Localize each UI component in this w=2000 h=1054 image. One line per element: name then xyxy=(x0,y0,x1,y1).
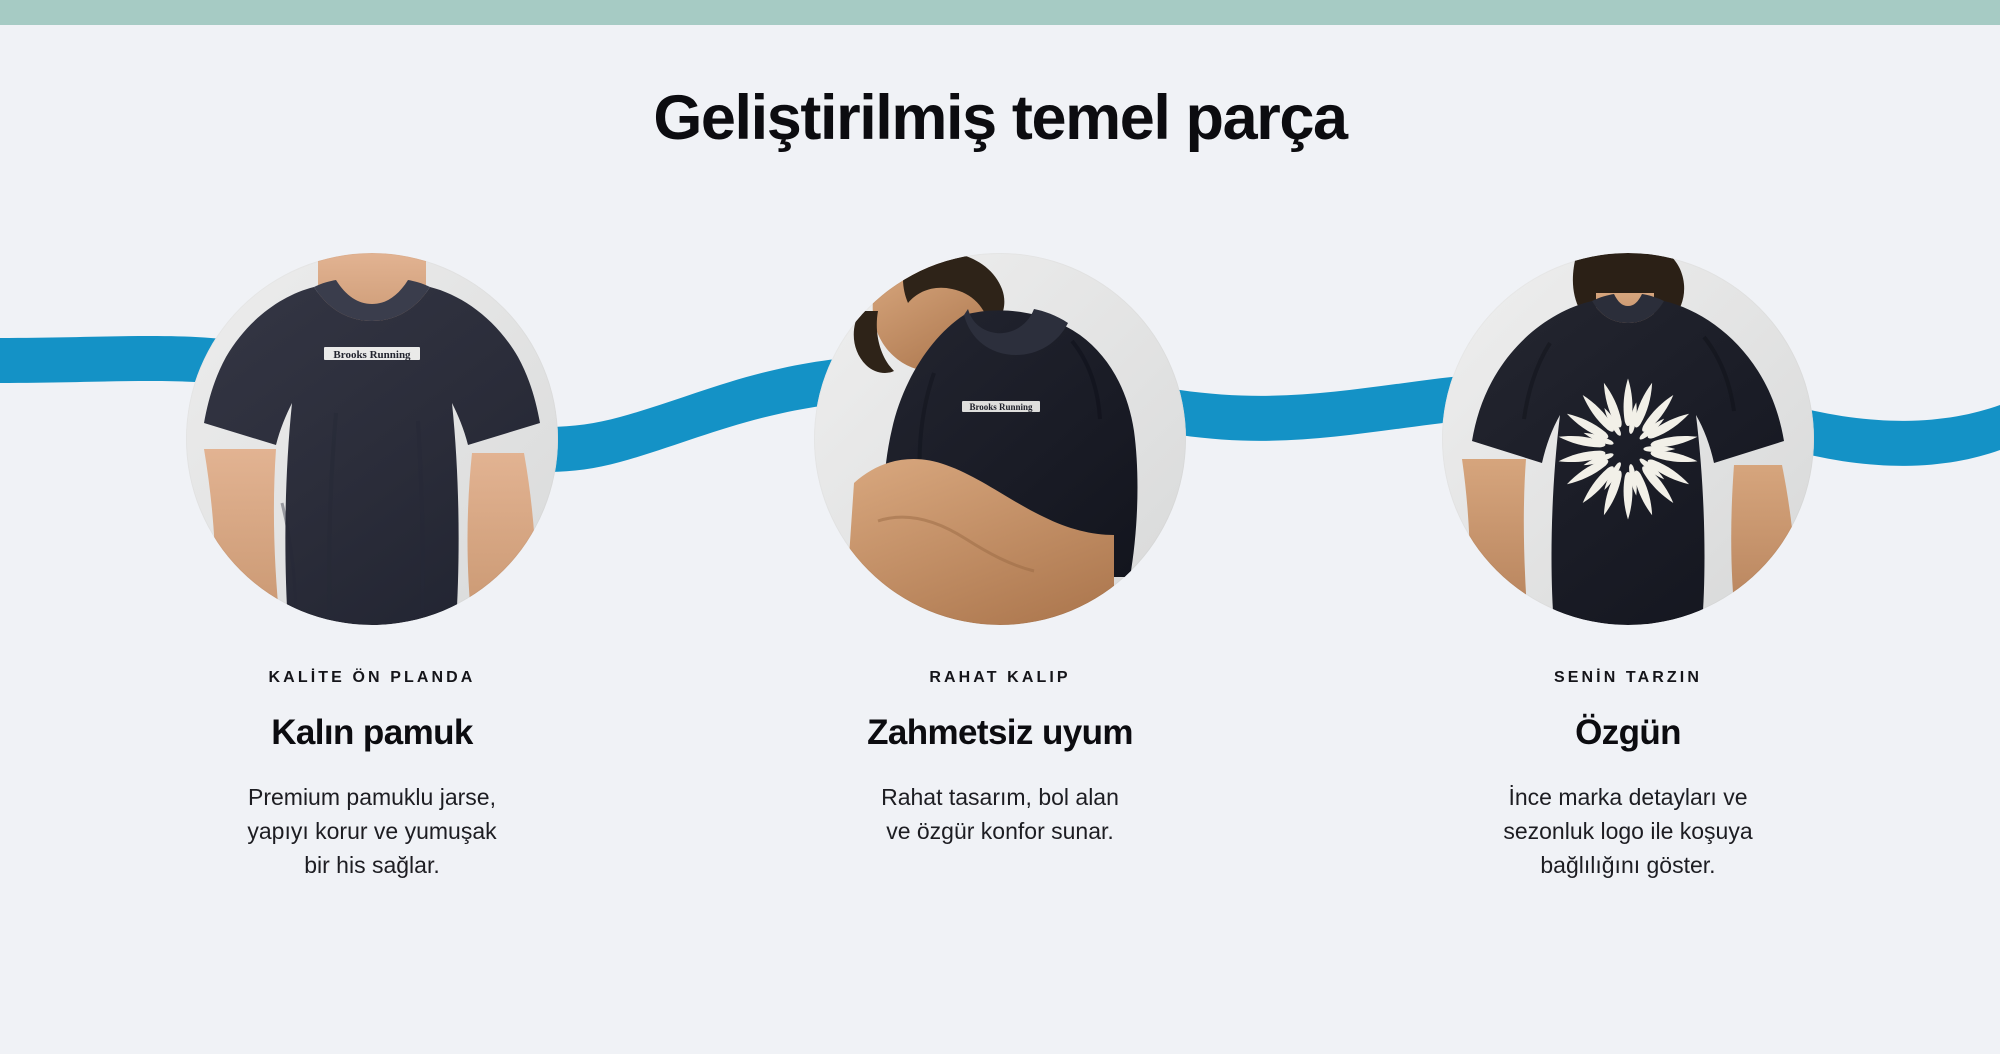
feature-card-quality: Brooks Running KALİTE ÖN PLANDA Kalın pa… xyxy=(58,253,686,882)
card-eyebrow: SENİN TARZIN xyxy=(1554,670,1702,686)
card-title: Özgün xyxy=(1575,713,1681,752)
page-stage: Geliştirilmiş temel parça xyxy=(0,25,2000,1054)
top-accent-bar xyxy=(0,0,2000,25)
page-title: Geliştirilmiş temel parça xyxy=(0,82,2000,154)
feature-card-fit: Brooks Running RAHAT KALIP Zahmetsiz uyu… xyxy=(686,253,1314,848)
card-eyebrow: RAHAT KALIP xyxy=(929,670,1070,686)
tshirt-front-chest-logo-photo: Brooks Running xyxy=(186,253,558,625)
card-description: Premium pamuklu jarse, yapıyı korur ve y… xyxy=(247,780,496,882)
card-eyebrow: KALİTE ÖN PLANDA xyxy=(269,670,476,686)
card-title: Kalın pamuk xyxy=(271,713,473,752)
svg-text:Brooks Running: Brooks Running xyxy=(333,349,411,361)
card-description: İnce marka detayları ve sezonluk logo il… xyxy=(1503,780,1752,882)
chest-logo-print: Brooks Running xyxy=(324,347,420,361)
card-description: Rahat tasarım, bol alan ve özgür konfor … xyxy=(881,780,1119,848)
model-seated-tshirt-photo: Brooks Running xyxy=(814,253,1186,625)
feature-card-row: Brooks Running KALİTE ÖN PLANDA Kalın pa… xyxy=(0,253,2000,882)
card-title: Zahmetsiz uyum xyxy=(867,713,1133,752)
chest-logo-print: Brooks Running xyxy=(962,401,1040,412)
feature-card-style: SENİN TARZIN Özgün İnce marka detayları … xyxy=(1314,253,1942,882)
tshirt-back-sunburst-logo-photo xyxy=(1442,253,1814,625)
svg-text:Brooks Running: Brooks Running xyxy=(969,402,1033,412)
